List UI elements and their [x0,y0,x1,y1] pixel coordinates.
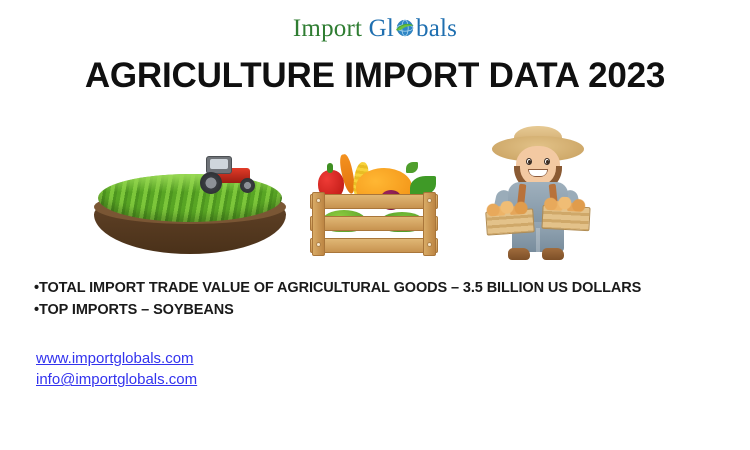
farmer-holding-produce-crates-image [470,124,602,264]
wooden-crate [310,194,438,256]
page-title: AGRICULTURE IMPORT DATA 2023 [0,58,750,95]
logo-text-bals: bals [416,16,457,41]
farmer-boot-right [542,248,564,260]
produce-pile [542,196,591,212]
slide-canvas: Import Gl bals AGRICULTURE IMPORT DATA 2… [0,0,750,450]
produce-crate-left [485,208,535,235]
crate-slat [310,216,438,231]
wooden-crate-of-vegetables-image [306,136,442,262]
illustration-row [0,116,750,266]
produce-crate-right [541,205,590,231]
crate-nail [428,199,431,202]
bullet-item-total-import-value: •TOTAL IMPORT TRADE VALUE OF AGRICULTURA… [34,277,730,299]
logo-text-gl: Gl [369,16,394,41]
brand-logo: Import Gl bals [0,16,750,41]
tractor-front-wheel [240,178,255,193]
crate-nail [317,199,320,202]
farm-field-with-tractor-image [86,138,296,262]
bullet-list: •TOTAL IMPORT TRADE VALUE OF AGRICULTURA… [34,277,730,321]
crate-slat [310,238,438,253]
logo-text-import: Import [293,16,362,41]
tractor-icon [198,156,260,196]
farmer-eye-right [544,158,550,165]
produce-pile [485,199,534,216]
farmer-boot-left [508,248,530,260]
website-link[interactable]: www.importglobals.com [36,348,197,369]
bullet-item-top-imports: •TOP IMPORTS – SOYBEANS [34,299,730,321]
email-link[interactable]: info@importglobals.com [36,369,197,390]
crate-nail [317,243,320,246]
crate-nail [428,243,431,246]
globe-icon [394,17,416,39]
contact-links: www.importglobals.com info@importglobals… [36,348,197,391]
farmer-eye-left [526,158,532,165]
tractor-rear-wheel [200,172,222,194]
crate-slat [310,194,438,209]
